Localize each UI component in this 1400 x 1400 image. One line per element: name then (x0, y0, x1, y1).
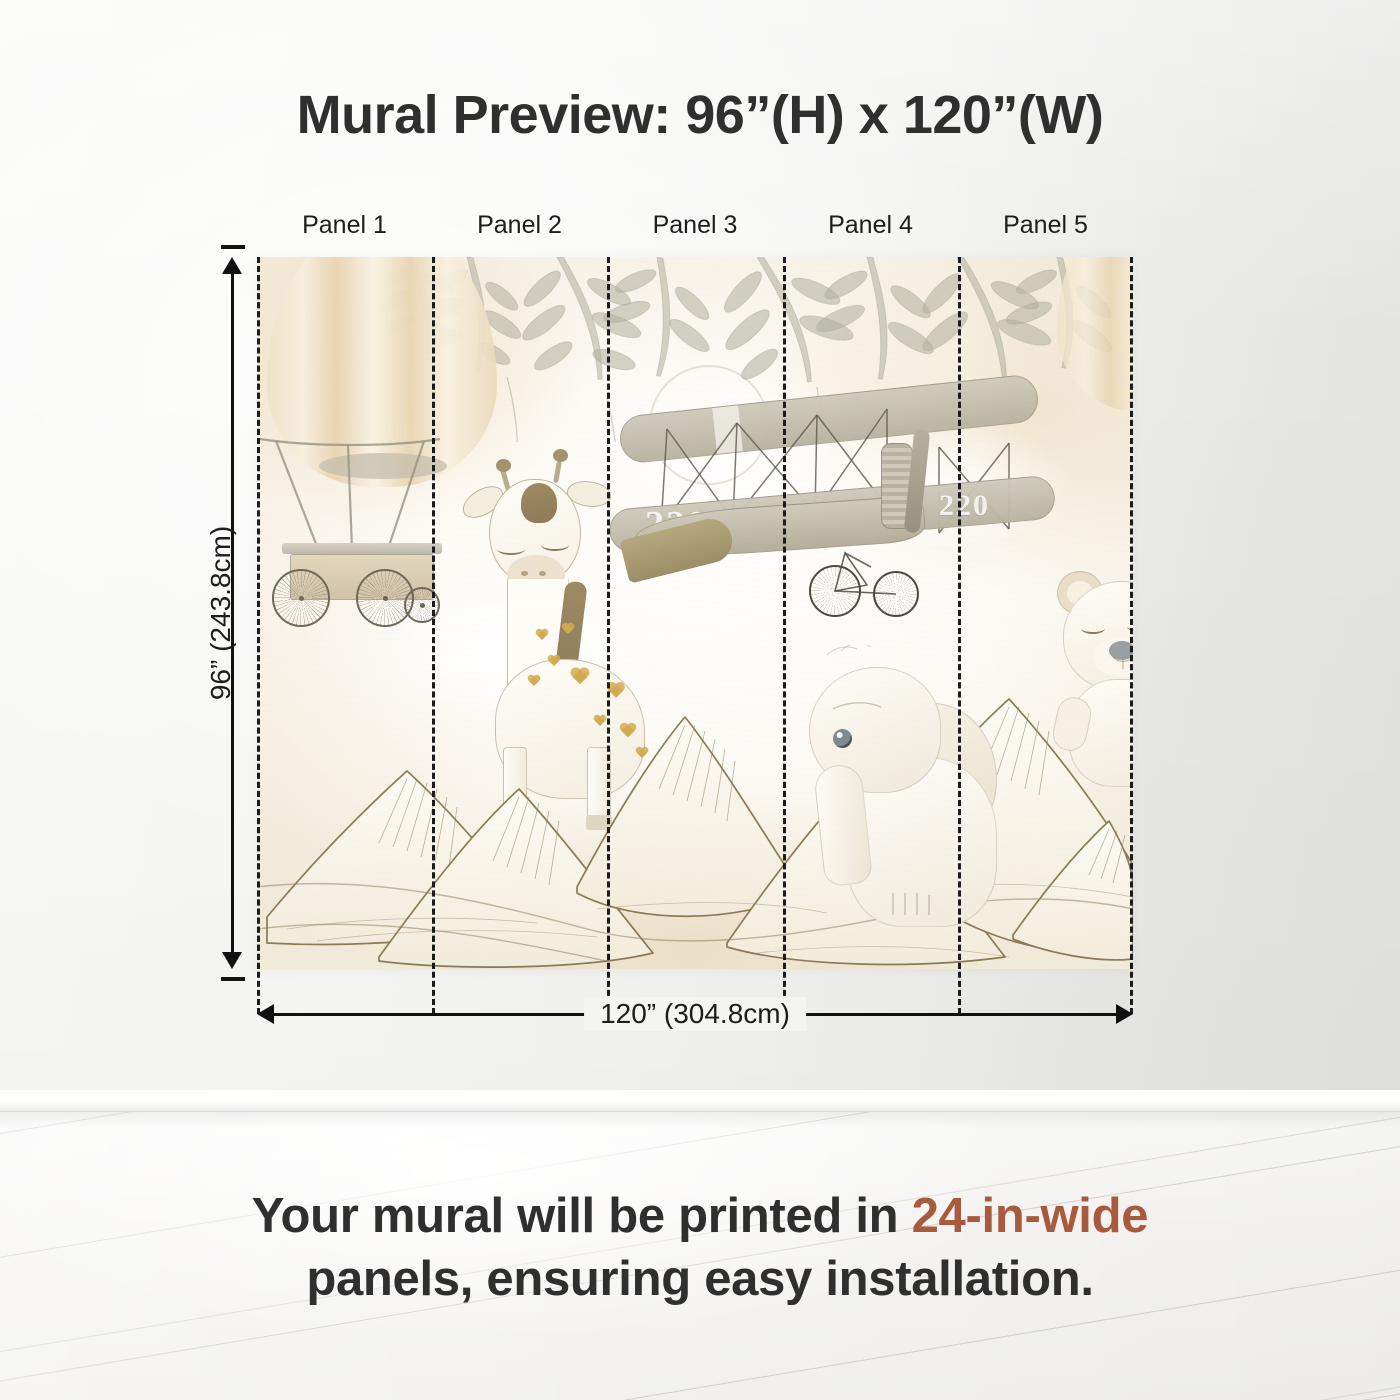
paper-texture (257, 257, 1133, 969)
installation-caption: Your mural will be printed in 24-in-wide… (0, 1185, 1400, 1311)
mural-artwork: 220 220 (257, 257, 1133, 969)
floor-wall-shadow (0, 1112, 1400, 1128)
baseboard (0, 1090, 1400, 1112)
mural-preview[interactable]: 220 220 (257, 257, 1133, 969)
panel-divider (607, 257, 610, 969)
panel-width-highlight: 24-in-wide (912, 1189, 1149, 1243)
panel-divider (1130, 257, 1133, 969)
caption-line-1: Your mural will be printed in 24-in-wide (0, 1185, 1400, 1248)
caption-text-before: Your mural will be printed in (252, 1189, 912, 1243)
panel-divider (257, 257, 260, 969)
panel-divider (958, 257, 961, 969)
panel-divider (783, 257, 786, 969)
caption-line-2: panels, ensuring easy installation. (0, 1248, 1400, 1311)
panel-divider (432, 257, 435, 969)
page-title: Mural Preview: 96”(H) x 120”(W) (0, 84, 1400, 146)
